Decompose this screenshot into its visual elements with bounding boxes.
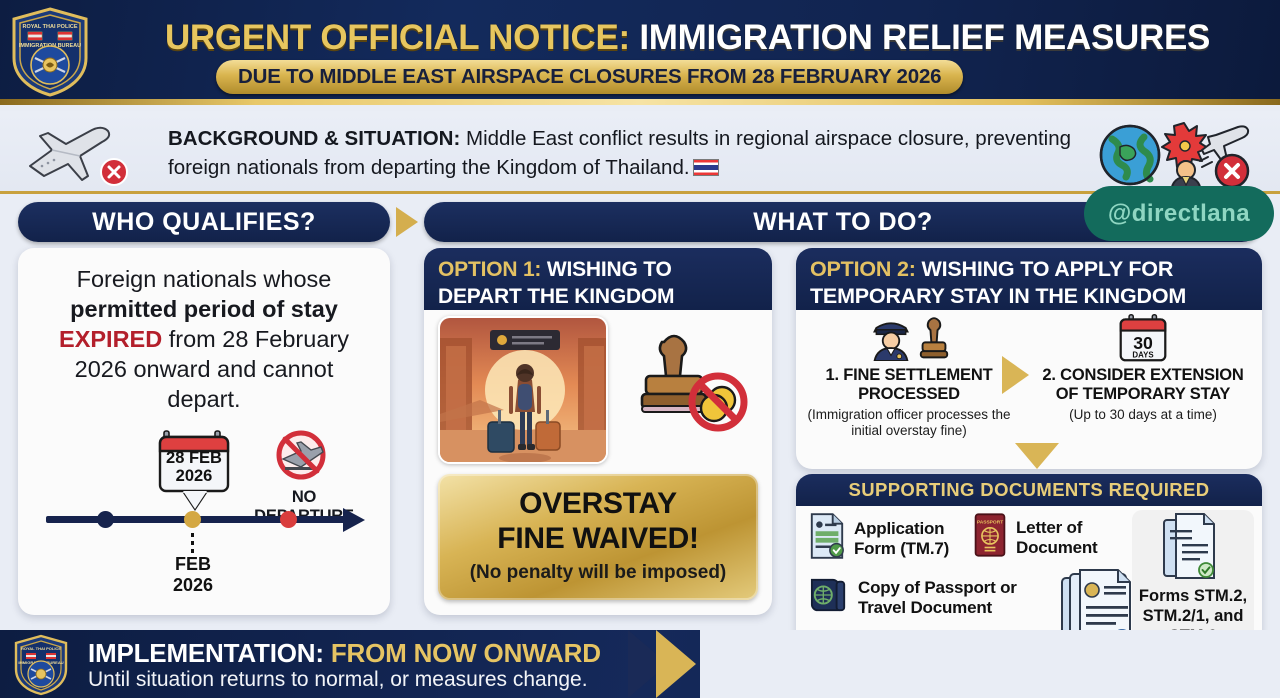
step2-icons: 30 DAYS <box>1032 314 1254 366</box>
who-qualifies-card: Foreign nationals whose permitted period… <box>18 248 390 615</box>
timeline-dot-past <box>97 511 114 528</box>
document-item-copy-of-passport: Copy of Passport or Travel Document <box>808 576 1048 619</box>
calendar-date-text: 28 FEB 2026 <box>158 449 230 485</box>
calendar-pointer-icon <box>183 491 207 509</box>
forms-stack-icon <box>1162 512 1224 587</box>
who-bold-phrase: permitted period of stay <box>70 296 338 322</box>
header-banner: ROYAL THAI POLICE IMMIGRATION BUREAU URG… <box>0 0 1280 105</box>
timeline-dot-feb-2026 <box>184 511 201 528</box>
banner-line-1: OVERSTAY <box>438 486 758 521</box>
option1-number: OPTION 1: <box>438 258 541 281</box>
chevron-gold-1-icon <box>656 630 696 698</box>
who-line-1: Foreign nationals whose <box>77 266 332 292</box>
expired-keyword: EXPIRED <box>59 326 162 352</box>
banner-subtext: (No penalty will be imposed) <box>438 562 758 584</box>
timeline-dashed-connector <box>191 533 194 553</box>
option2-step-1: 1. FINE SETTLEMENT PROCESSED (Immigratio… <box>804 314 1014 439</box>
svg-text:ROYAL THAI POLICE: ROYAL THAI POLICE <box>22 24 77 30</box>
copy-of-passport-label: Copy of Passport or Travel Document <box>858 578 1048 618</box>
down-arrow-icon <box>1015 443 1059 469</box>
documents-header: SUPPORTING DOCUMENTS REQUIRED <box>796 474 1262 506</box>
document-item-letter-of-document: PASSPORT Letter of Document <box>972 512 1116 563</box>
immigration-officer-icon <box>869 315 913 366</box>
police-badge-icon-footer: ROYAL THAI POLICE IMMIGRATION BUREAU <box>12 634 70 696</box>
conflict-icons-group <box>1096 117 1266 191</box>
footer-note: Until situation returns to normal, or me… <box>88 668 588 692</box>
page-title: URGENT OFFICIAL NOTICE: IMMIGRATION RELI… <box>105 12 1270 64</box>
timeline-dot-blocked <box>280 511 297 528</box>
svg-text:PASSPORT: PASSPORT <box>977 519 1003 525</box>
footer-implementation-bar: ROYAL THAI POLICE IMMIGRATION BUREAU IMP… <box>0 630 1280 698</box>
option2-header: OPTION 2: WISHING TO APPLY FOR TEMPORARY… <box>796 248 1262 310</box>
timeline-label-year: 2026 <box>173 575 213 595</box>
application-form-label: Application Form (TM.7) <box>854 519 974 559</box>
timeline-arrow-icon <box>343 508 365 532</box>
background-text: BACKGROUND & SITUATION: Middle East conf… <box>168 124 1098 182</box>
rubber-stamp-icon <box>919 316 949 365</box>
who-qualifies-text: Foreign nationals whose permitted period… <box>36 264 372 414</box>
step2-title: 2. CONSIDER EXTENSION OF TEMPORARY STAY <box>1032 366 1254 404</box>
svg-text:ROYAL THAI POLICE: ROYAL THAI POLICE <box>21 646 61 651</box>
option2-step-2: 30 DAYS 2. CONSIDER EXTENSION OF TEMPORA… <box>1032 314 1254 423</box>
background-label: BACKGROUND & SITUATION: <box>168 127 460 150</box>
no-departure-icon <box>271 429 331 485</box>
calendar-unit: DAYS <box>1132 350 1153 359</box>
application-form-icon <box>808 512 846 565</box>
title-gold-part: URGENT OFFICIAL NOTICE: <box>165 18 630 57</box>
timeline-label-feb-2026: FEB 2026 <box>138 554 248 596</box>
calendar-30-days-icon: 30 DAYS <box>1117 313 1169 368</box>
police-badge-icon: ROYAL THAI POLICE IMMIGRATION BUREAU <box>8 6 92 98</box>
passport-icon: PASSPORT <box>972 512 1008 563</box>
gold-arrow-icon <box>396 207 418 237</box>
header-subtitle: DUE TO MIDDLE EAST AIRSPACE CLOSURES FRO… <box>216 60 963 94</box>
footer-line-1: IMPLEMENTATION: FROM NOW ONWARD <box>88 638 601 669</box>
watermark-handle: @directlana <box>1084 186 1274 241</box>
step-arrow-icon <box>1002 356 1029 394</box>
who-timeline: 28 FEB 2026 NO DEPARTURE <box>18 423 390 613</box>
timeline-label-month: FEB <box>175 554 211 574</box>
calendar-day-month: 28 FEB <box>166 449 222 467</box>
option1-card: OPTION 1: WISHING TO DEPART THE KINGDOM <box>424 248 772 615</box>
overstay-fine-waived-banner: OVERSTAY FINE WAIVED! (No penalty will b… <box>438 474 758 600</box>
step1-title: 1. FINE SETTLEMENT PROCESSED <box>804 366 1014 404</box>
option1-header: OPTION 1: WISHING TO DEPART THE KINGDOM <box>424 248 772 310</box>
calendar-year: 2026 <box>176 467 213 485</box>
title-white-part: IMMIGRATION RELIEF MEASURES <box>639 18 1210 57</box>
background-situation-strip: BACKGROUND & SITUATION: Middle East conf… <box>0 111 1280 194</box>
stamp-no-fine-icon <box>626 328 754 446</box>
implementation-label: IMPLEMENTATION: <box>88 638 324 668</box>
footer-right-blank <box>700 630 1280 698</box>
option2-number: OPTION 2: <box>810 257 916 281</box>
step1-icons <box>804 314 1014 366</box>
step1-note: (Immigration officer processes the initi… <box>804 407 1014 439</box>
banner-line-2: FINE WAIVED! <box>438 521 758 556</box>
option1-media <box>438 316 758 466</box>
implementation-value: FROM NOW ONWARD <box>324 638 601 668</box>
option2-card: OPTION 2: WISHING TO APPLY FOR TEMPORARY… <box>796 248 1262 469</box>
thai-flag-icon <box>693 159 719 176</box>
plane-no-departure-icon <box>22 120 150 186</box>
document-item-application-form: Application Form (TM.7) <box>808 512 974 565</box>
letter-of-document-label: Letter of Document <box>1016 518 1116 558</box>
infographic-root: ROYAL THAI POLICE IMMIGRATION BUREAU URG… <box>0 0 1280 698</box>
traveler-departing-image <box>438 316 608 464</box>
section-header-who-qualifies: WHO QUALIFIES? <box>18 202 390 242</box>
step2-note: (Up to 30 days at a time) <box>1032 407 1254 423</box>
travel-document-icon <box>808 576 850 619</box>
